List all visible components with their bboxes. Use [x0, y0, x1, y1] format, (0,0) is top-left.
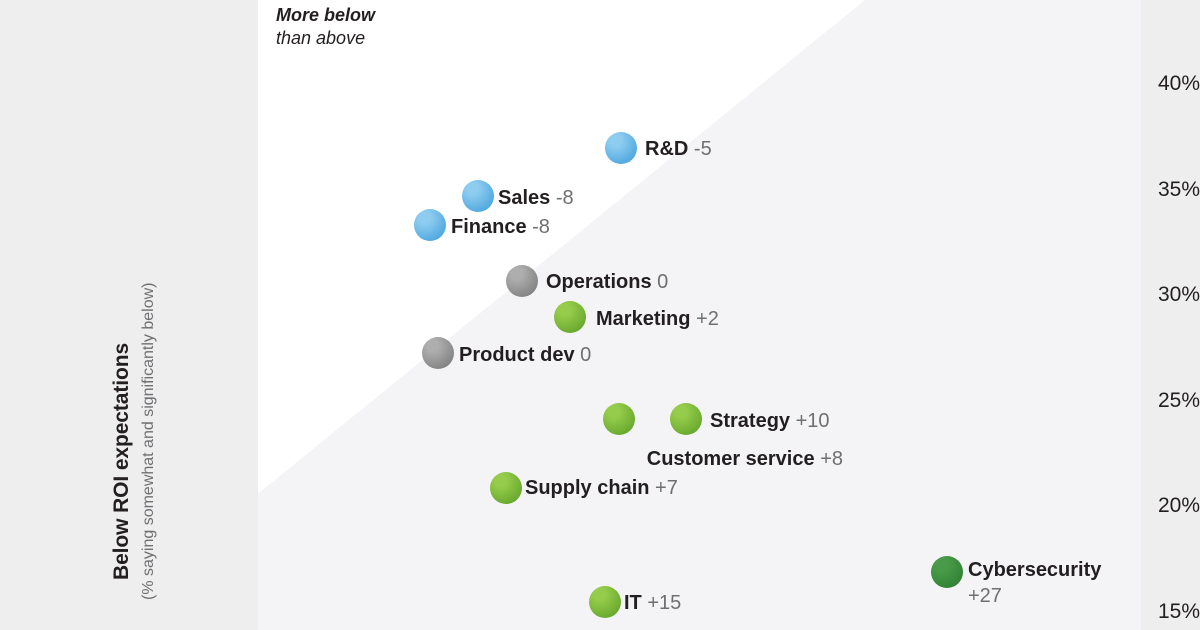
- chart-canvas: R&D -5Sales -8Finance -8Operations 0Mark…: [0, 0, 1200, 630]
- data-point-name: Product dev: [459, 344, 575, 366]
- data-point-label: Finance -8: [451, 214, 550, 240]
- y-tick-label: 15%: [1130, 600, 1200, 624]
- data-point-name: Customer service: [647, 448, 815, 470]
- data-point-name: Sales: [498, 187, 550, 209]
- data-point-label: Strategy +10: [710, 408, 830, 434]
- data-point-bubble[interactable]: [589, 586, 621, 618]
- data-point-delta: +15: [647, 592, 681, 614]
- data-point-name: Cybersecurity: [968, 557, 1101, 583]
- data-point-bubble[interactable]: [670, 403, 702, 435]
- data-point-bubble[interactable]: [422, 337, 454, 369]
- data-point-label: IT +15: [624, 590, 681, 616]
- region-annotation: More below than above: [276, 4, 375, 50]
- plot-area: R&D -5Sales -8Finance -8Operations 0Mark…: [258, 0, 1141, 630]
- y-tick-label: 35%: [1130, 178, 1200, 202]
- data-point-delta: -8: [532, 216, 550, 238]
- data-point-label: Operations 0: [546, 269, 668, 295]
- data-point-delta: 0: [580, 344, 591, 366]
- data-point-delta: +10: [796, 410, 830, 432]
- region-annotation-line1: More below: [276, 4, 375, 27]
- data-point-label: Sales -8: [498, 185, 574, 211]
- y-tick-label: 30%: [1130, 283, 1200, 307]
- data-point-bubble[interactable]: [506, 265, 538, 297]
- data-point-bubble[interactable]: [931, 556, 963, 588]
- data-point-name: Supply chain: [525, 477, 649, 499]
- data-point-name: Strategy: [710, 410, 790, 432]
- data-point-bubble[interactable]: [490, 472, 522, 504]
- data-point-name: Operations: [546, 271, 652, 293]
- data-point-bubble[interactable]: [414, 209, 446, 241]
- data-point-delta: +7: [655, 477, 678, 499]
- data-point-name: IT: [624, 592, 642, 614]
- data-point-delta: +2: [696, 308, 719, 330]
- data-point-label: Marketing +2: [596, 306, 719, 332]
- data-point-label: Customer service +8: [647, 446, 843, 472]
- data-point-label: Cybersecurity+27: [968, 557, 1101, 609]
- data-point-bubble[interactable]: [603, 403, 635, 435]
- data-point-delta: -8: [556, 187, 574, 209]
- data-point-name: R&D: [645, 138, 688, 160]
- region-annotation-line2: than above: [276, 27, 375, 50]
- data-point-bubble[interactable]: [605, 132, 637, 164]
- data-point-delta: +8: [820, 448, 843, 470]
- data-point-label: R&D -5: [645, 136, 712, 162]
- data-point-bubble[interactable]: [554, 301, 586, 333]
- y-axis-subtitle: (% saying somewhat and significantly bel…: [140, 283, 158, 600]
- data-point-delta: +27: [968, 583, 1101, 609]
- y-axis-title-group: Below ROI expectations (% saying somewha…: [0, 0, 175, 630]
- data-point-bubble[interactable]: [462, 180, 494, 212]
- y-tick-label: 20%: [1130, 494, 1200, 518]
- data-point-delta: 0: [657, 271, 668, 293]
- data-point-name: Finance: [451, 216, 527, 238]
- data-point-label: Product dev 0: [459, 342, 591, 368]
- data-point-label: Supply chain +7: [525, 475, 678, 501]
- y-tick-label: 25%: [1130, 389, 1200, 413]
- data-point-name: Marketing: [596, 308, 690, 330]
- y-tick-label: 40%: [1130, 72, 1200, 96]
- y-axis-title: Below ROI expectations: [110, 343, 134, 580]
- data-point-delta: -5: [694, 138, 712, 160]
